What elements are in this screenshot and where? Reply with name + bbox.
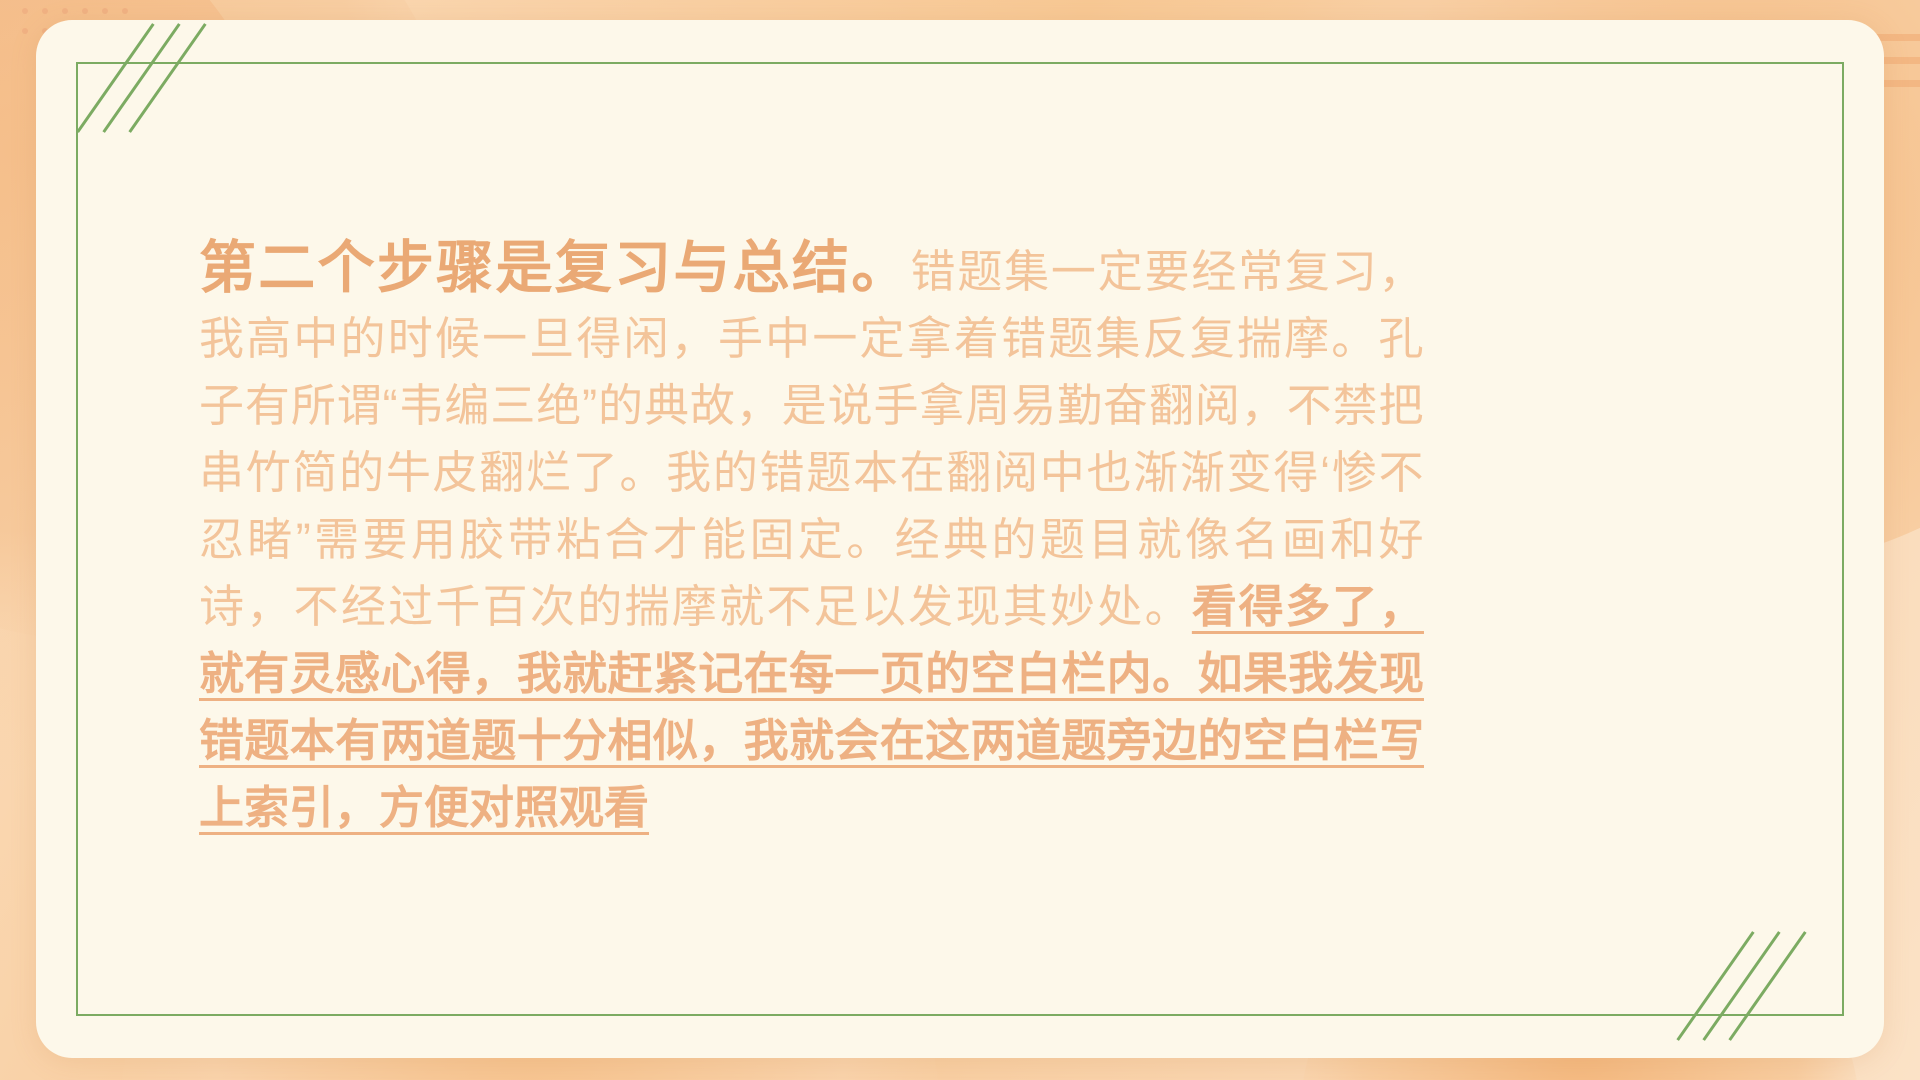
text-content-block: 第二个步骤是复习与总结。错题集一定要经常复习，我高中的时候一旦得闲，手中一定拿着… <box>199 235 1424 841</box>
article-paragraph: 第二个步骤是复习与总结。错题集一定要经常复习，我高中的时候一旦得闲，手中一定拿着… <box>199 235 1424 841</box>
paragraph-body: 错题集一定要经常复习，我高中的时候一旦得闲，手中一定拿着错题集反复揣摩。孔子有所… <box>199 246 1424 632</box>
page-title: 第二个步骤是复习与总结。 <box>199 236 911 300</box>
slide-root: 第二个步骤是复习与总结。错题集一定要经常复习，我高中的时候一旦得闲，手中一定拿着… <box>0 0 1920 1080</box>
content-card: 第二个步骤是复习与总结。错题集一定要经常复习，我高中的时候一旦得闲，手中一定拿着… <box>36 20 1884 1058</box>
